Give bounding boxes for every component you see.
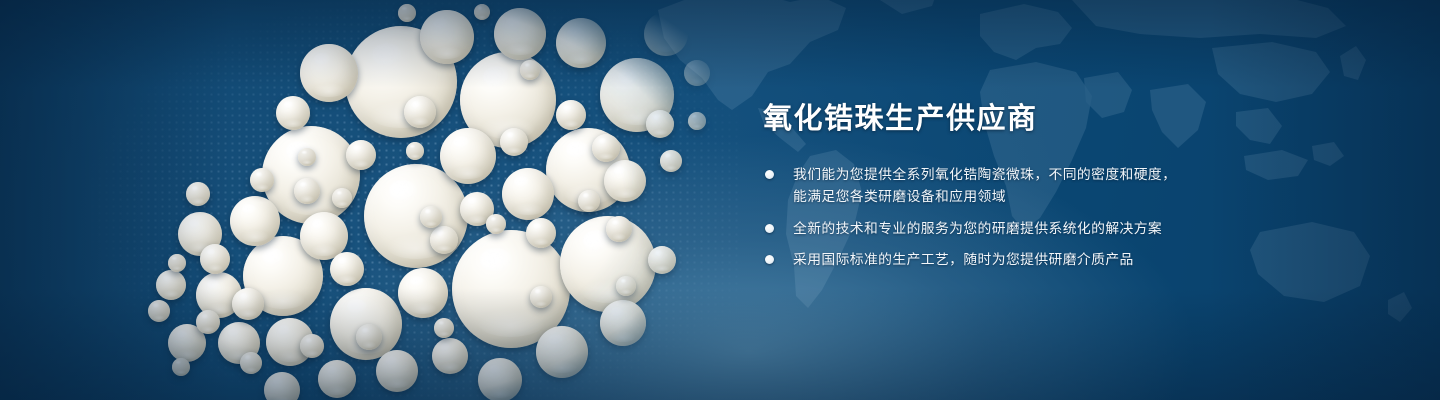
bullet-item: 我们能为您提供全系列氧化锆陶瓷微珠，不同的密度和硬度， 能满足您各类研磨设备和应… <box>763 164 1283 209</box>
bullet-dot-icon <box>765 224 774 233</box>
banner-headline: 氧化锆珠生产供应商 <box>763 104 1283 136</box>
bullet-text-line: 全新的技术和专业的服务为您的研磨提供系统化的解决方案 <box>793 218 1283 240</box>
banner-text-block: 氧化锆珠生产供应商 我们能为您提供全系列氧化锆陶瓷微珠，不同的密度和硬度， 能满… <box>763 104 1283 271</box>
bullet-text-line: 采用国际标准的生产工艺，随时为您提供研磨介质产品 <box>793 249 1283 271</box>
bullet-dot-icon <box>765 170 774 179</box>
bullet-item: 全新的技术和专业的服务为您的研磨提供系统化的解决方案 <box>763 218 1283 240</box>
bullet-item: 采用国际标准的生产工艺，随时为您提供研磨介质产品 <box>763 249 1283 271</box>
banner-bullet-list: 我们能为您提供全系列氧化锆陶瓷微珠，不同的密度和硬度， 能满足您各类研磨设备和应… <box>763 164 1283 271</box>
bullet-text-line: 能满足您各类研磨设备和应用领域 <box>793 186 1283 208</box>
bullet-dot-icon <box>765 255 774 264</box>
hero-banner: 氧化锆珠生产供应商 我们能为您提供全系列氧化锆陶瓷微珠，不同的密度和硬度， 能满… <box>0 0 1440 400</box>
bullet-text-line: 我们能为您提供全系列氧化锆陶瓷微珠，不同的密度和硬度， <box>793 164 1283 186</box>
